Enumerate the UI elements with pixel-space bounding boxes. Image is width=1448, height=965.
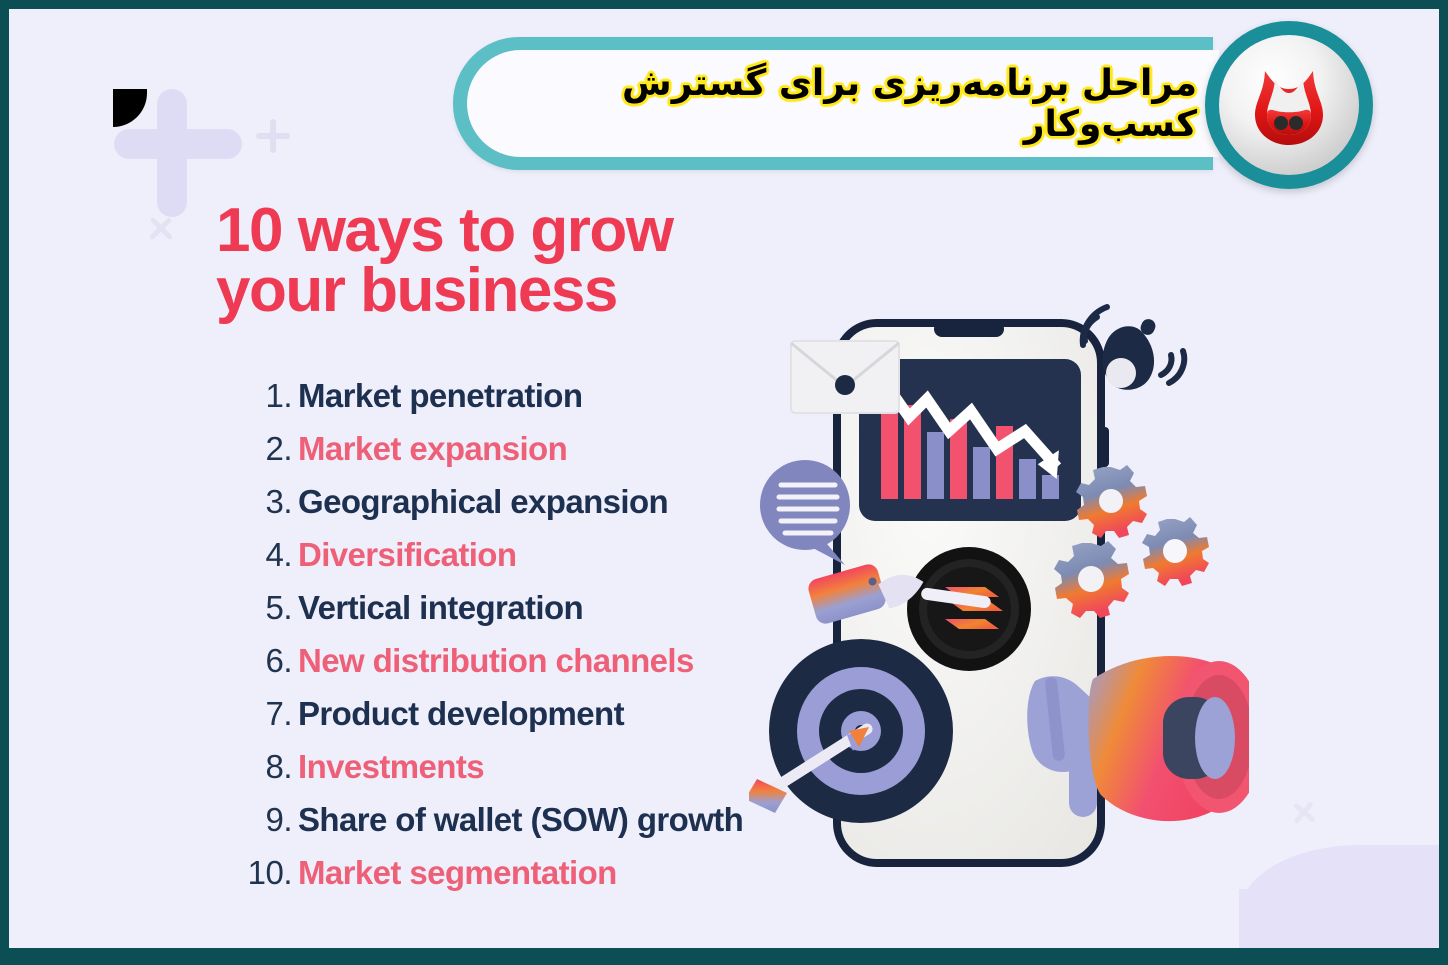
list-item-label: Market penetration	[298, 377, 582, 415]
list-item-number: 6.	[224, 642, 292, 680]
list-item-label: Market segmentation	[298, 854, 617, 892]
brand-logo-badge[interactable]	[1205, 21, 1373, 189]
list-item-number: 8.	[224, 748, 292, 786]
cross-decoration-b	[141, 209, 181, 249]
list-item-number: 5.	[224, 589, 292, 627]
cross-decoration-c	[1286, 795, 1323, 832]
list-item-label: Market expansion	[298, 430, 567, 468]
headline-line-1: 10 ways to grow	[216, 196, 672, 265]
page-title-fa: مراحل برنامه‌ریزی برای گسترش کسب‌وکار	[467, 63, 1219, 145]
blob-decoration-bottom-right	[1239, 845, 1439, 948]
crypto-coin-icon	[907, 547, 1031, 671]
brand-logo-mark	[1237, 53, 1341, 157]
title-bar: مراحل برنامه‌ریزی برای گسترش کسب‌وکار	[453, 37, 1213, 170]
list-item-number: 10.	[224, 854, 292, 892]
poster-root: مراحل برنامه‌ریزی برای گسترش کسب‌وکار	[0, 0, 1448, 965]
brand-logo-disc	[1219, 35, 1359, 175]
list-item-label: Geographical expansion	[298, 483, 668, 521]
list-item-number: 3.	[224, 483, 292, 521]
blob-decoration-fill	[1239, 889, 1339, 948]
list-item-label: Share of wallet (SOW) growth	[298, 801, 743, 839]
list-item-number: 4.	[224, 536, 292, 574]
poster-canvas: مراحل برنامه‌ریزی برای گسترش کسب‌وکار	[9, 9, 1439, 948]
list-item-number: 1.	[224, 377, 292, 415]
list-item-label: Investments	[298, 748, 484, 786]
list-item-number: 7.	[224, 695, 292, 733]
list-item-label: Vertical integration	[298, 589, 583, 627]
envelope-icon	[791, 341, 899, 413]
corner-clip-artifact	[113, 89, 147, 127]
list-item-label: Diversification	[298, 536, 516, 574]
cross-decoration-a	[256, 119, 290, 153]
list-item-number: 9.	[224, 801, 292, 839]
business-growth-illustration	[749, 279, 1249, 899]
list-item-label: New distribution channels	[298, 642, 694, 680]
title-bar-inner: مراحل برنامه‌ریزی برای گسترش کسب‌وکار	[467, 50, 1219, 157]
list-item-label: Product development	[298, 695, 624, 733]
list-item-number: 2.	[224, 430, 292, 468]
